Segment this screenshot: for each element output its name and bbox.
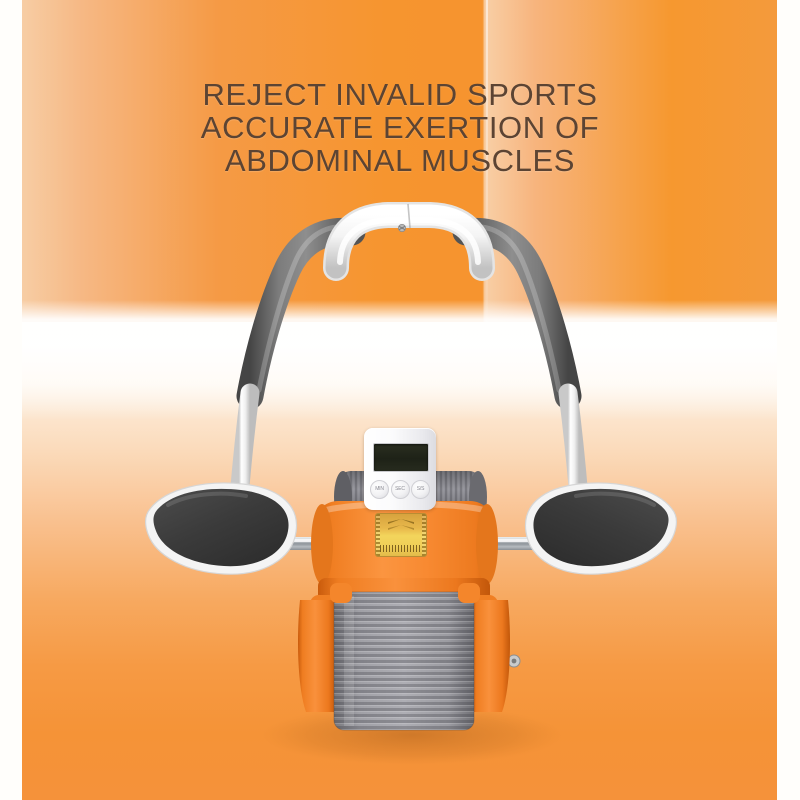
product-illustration (0, 0, 800, 800)
roller-tab-right (458, 583, 480, 603)
wheel-bracket-right (472, 600, 510, 712)
timer-screen (373, 443, 429, 472)
housing-cap-right (476, 504, 498, 584)
roller-tab-left (330, 583, 352, 603)
start-stop-button[interactable]: S/S (411, 480, 430, 499)
timer-button-group: MIN SEC S/S (370, 480, 430, 499)
product-image-canvas: REJECT INVALID SPORTS ACCURATE EXERTION … (0, 0, 800, 800)
wheel-bracket-left (298, 600, 336, 712)
sticker-edge-right (422, 514, 426, 556)
min-button[interactable]: MIN (370, 480, 389, 499)
housing-cap-left (311, 504, 333, 584)
sec-button[interactable]: SEC (391, 480, 410, 499)
digital-timer[interactable]: MIN SEC S/S (364, 428, 436, 510)
frame-tube-right (568, 393, 579, 498)
sticker-barcode (380, 545, 422, 552)
frame-tube-left (239, 393, 250, 498)
double-chevron-up-icon (388, 519, 414, 535)
warning-sticker (375, 513, 427, 557)
